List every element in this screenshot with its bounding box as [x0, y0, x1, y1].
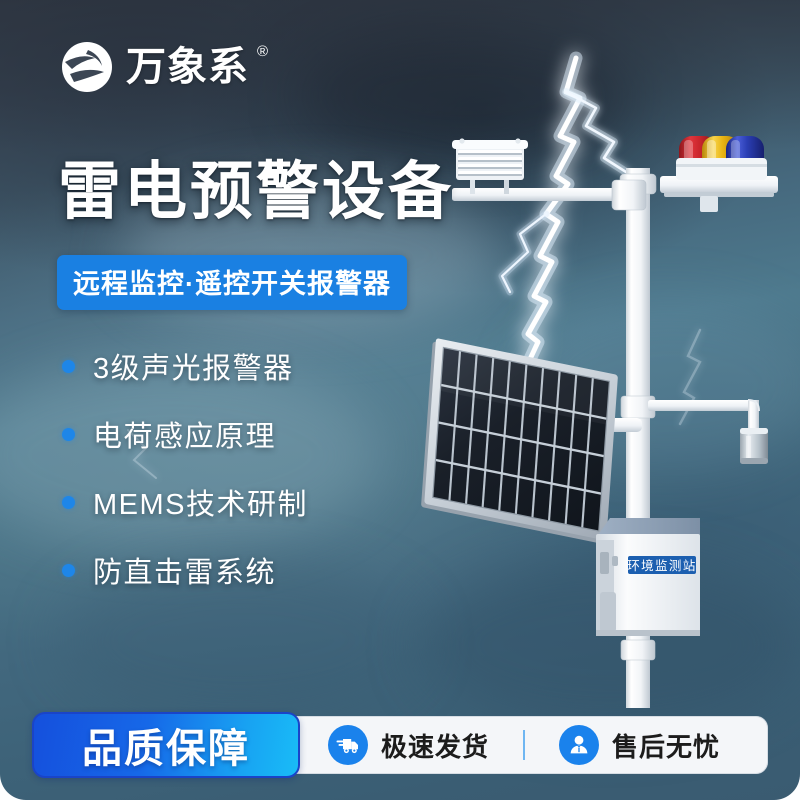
blue-dot-icon [62, 564, 75, 577]
list-item: 3级声光报警器 [62, 345, 308, 387]
divider [523, 730, 525, 760]
list-item: MEMS技术研制 [62, 481, 308, 523]
trust-label: 极速发货 [381, 727, 489, 764]
delivery-truck-icon [328, 725, 368, 765]
feature-list: 3级声光报警器 电荷感应原理 MEMS技术研制 防直击雷系统 [62, 345, 308, 591]
trust-item-fast-shipping: 极速发货 [328, 725, 489, 765]
feature-label: 3级声光报警器 [93, 345, 294, 387]
trust-item-after-sales: 售后无忧 [559, 725, 720, 765]
registered-trademark-icon: ® [257, 44, 268, 59]
radiation-shield-sensor [452, 138, 528, 194]
feature-label: 防直击雷系统 [93, 549, 276, 591]
swoosh-globe-logo-icon [58, 38, 116, 96]
quality-guarantee-badge: 品质保障 [32, 712, 300, 778]
blue-dot-icon [62, 360, 75, 373]
product-banner: 环境监测站 万象系 ® 雷电预警设备 远程监控·遥控开关报警器 3级声光报警器 [0, 0, 800, 800]
list-item: 电荷感应原理 [62, 413, 308, 455]
list-item: 防直击雷系统 [62, 549, 308, 591]
trust-panel: 极速发货 售后无忧 [286, 716, 768, 774]
trust-bar: 品质保障 [32, 712, 768, 778]
upper-crossarm [452, 180, 646, 210]
feature-label: MEMS技术研制 [93, 481, 308, 523]
blue-alarm-beacon [723, 136, 767, 180]
subtitle-badge: 远程监控·遥控开关报警器 [57, 255, 407, 310]
blue-dot-icon [62, 428, 75, 441]
customer-service-person-icon [559, 725, 599, 765]
solar-panel [421, 337, 642, 544]
device-label-text: 环境监测站 [627, 558, 697, 573]
brand-logo: 万象系 ® [58, 38, 268, 96]
cylindrical-sensor [740, 428, 768, 464]
brand-name: 万象系 [126, 38, 249, 96]
controller-box: 环境监测站 [596, 518, 700, 636]
beacon-mount-plate [660, 176, 778, 212]
page-title: 雷电预警设备 [58, 158, 454, 226]
feature-label: 电荷感应原理 [93, 413, 276, 455]
trust-label: 售后无忧 [612, 727, 720, 764]
blue-dot-icon [62, 496, 75, 509]
quality-badge-label: 品质保障 [82, 716, 250, 774]
